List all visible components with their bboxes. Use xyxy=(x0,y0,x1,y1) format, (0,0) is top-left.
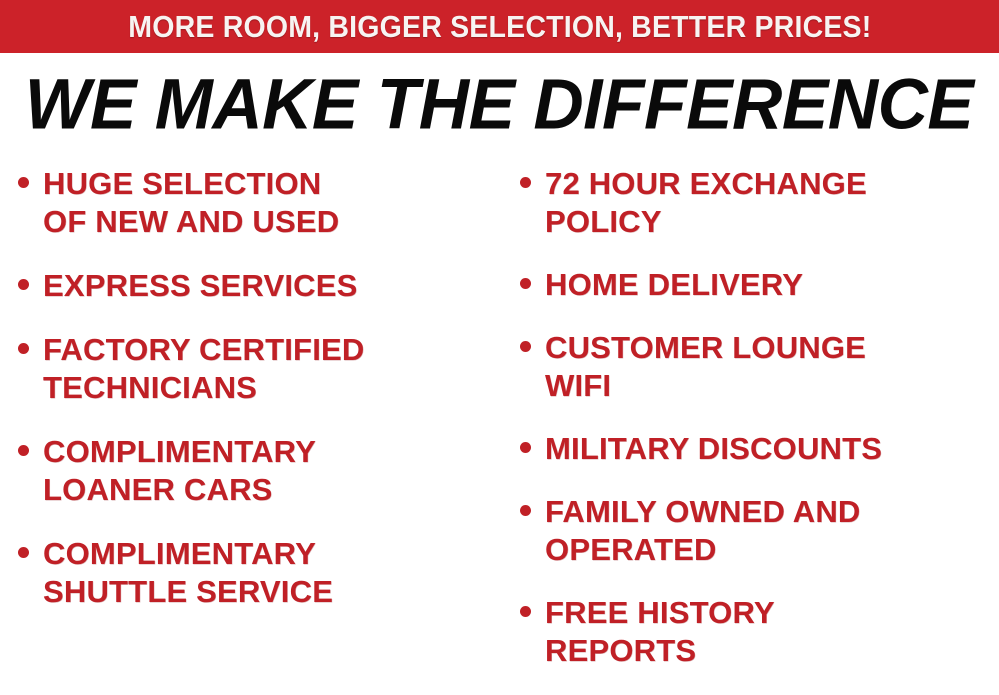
bullet-dot-icon xyxy=(18,279,29,290)
list-item-label: HUGE SELECTION OF NEW AND USED xyxy=(43,165,339,241)
list-item-label: FREE HISTORY REPORTS xyxy=(545,594,775,670)
list-item-label: EXPRESS SERVICES xyxy=(43,267,357,305)
features-columns: HUGE SELECTION OF NEW AND USED EXPRESS S… xyxy=(0,155,999,692)
bullet-dot-icon xyxy=(520,606,531,617)
bullet-dot-icon xyxy=(520,177,531,188)
bullet-dot-icon xyxy=(18,547,29,558)
list-item-label: COMPLIMENTARY LOANER CARS xyxy=(43,433,316,509)
features-column-left: HUGE SELECTION OF NEW AND USED EXPRESS S… xyxy=(0,155,505,637)
bullet-dot-icon xyxy=(520,442,531,453)
bullet-dot-icon xyxy=(18,177,29,188)
promo-banner: MORE ROOM, BIGGER SELECTION, BETTER PRIC… xyxy=(0,0,999,53)
list-item: HOME DELIVERY xyxy=(520,266,999,304)
list-item-label: MILITARY DISCOUNTS xyxy=(545,430,882,468)
list-item: HUGE SELECTION OF NEW AND USED xyxy=(18,165,505,241)
bullet-dot-icon xyxy=(18,445,29,456)
list-item: CUSTOMER LOUNGE WIFI xyxy=(520,329,999,405)
list-item-label: 72 HOUR EXCHANGE POLICY xyxy=(545,165,867,241)
list-item-label: HOME DELIVERY xyxy=(545,266,803,304)
list-item: EXPRESS SERVICES xyxy=(18,267,505,305)
bullet-dot-icon xyxy=(18,343,29,354)
headline-container: WE MAKE THE DIFFERENCE xyxy=(0,66,999,142)
page-title: WE MAKE THE DIFFERENCE xyxy=(25,68,974,139)
list-item: 72 HOUR EXCHANGE POLICY xyxy=(520,165,999,241)
list-item: COMPLIMENTARY SHUTTLE SERVICE xyxy=(18,535,505,611)
list-item: FACTORY CERTIFIED TECHNICIANS xyxy=(18,331,505,407)
bullet-dot-icon xyxy=(520,341,531,352)
list-item: FREE HISTORY REPORTS xyxy=(520,594,999,670)
list-item: MILITARY DISCOUNTS xyxy=(520,430,999,468)
list-item-label: COMPLIMENTARY SHUTTLE SERVICE xyxy=(43,535,333,611)
features-column-right: 72 HOUR EXCHANGE POLICY HOME DELIVERY CU… xyxy=(505,155,999,695)
promo-banner-text: MORE ROOM, BIGGER SELECTION, BETTER PRIC… xyxy=(128,11,871,42)
list-item: COMPLIMENTARY LOANER CARS xyxy=(18,433,505,509)
list-item-label: FAMILY OWNED AND OPERATED xyxy=(545,493,861,569)
bullet-dot-icon xyxy=(520,278,531,289)
list-item-label: CUSTOMER LOUNGE WIFI xyxy=(545,329,866,405)
list-item-label: FACTORY CERTIFIED TECHNICIANS xyxy=(43,331,364,407)
bullet-dot-icon xyxy=(520,505,531,516)
list-item: FAMILY OWNED AND OPERATED xyxy=(520,493,999,569)
